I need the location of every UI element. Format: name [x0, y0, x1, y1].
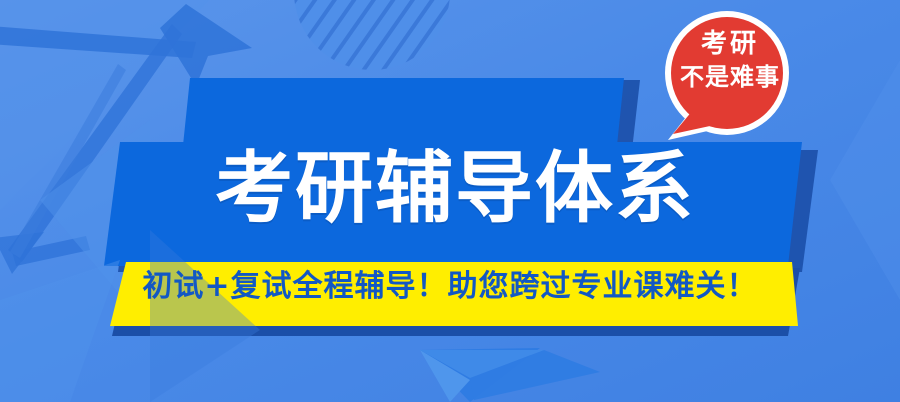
promo-banner: 考研 不是难事 考研辅导体系 初试+复试全程辅导！助您跨过专业课难关！ [0, 0, 900, 402]
subtitle-text: 初试+复试全程辅导！助您跨过专业课难关！ [142, 272, 757, 302]
banner-main-title: 考研辅导体系 [0, 150, 900, 228]
badge-text-block: 考研 不是难事 [650, 28, 810, 93]
badge-line-2: 不是难事 [650, 61, 810, 93]
banner-subtitle: 初试+复试全程辅导！助您跨过专业课难关！ [0, 272, 900, 302]
badge-line-1: 考研 [650, 28, 810, 61]
main-title-text: 考研辅导体系 [215, 150, 695, 228]
